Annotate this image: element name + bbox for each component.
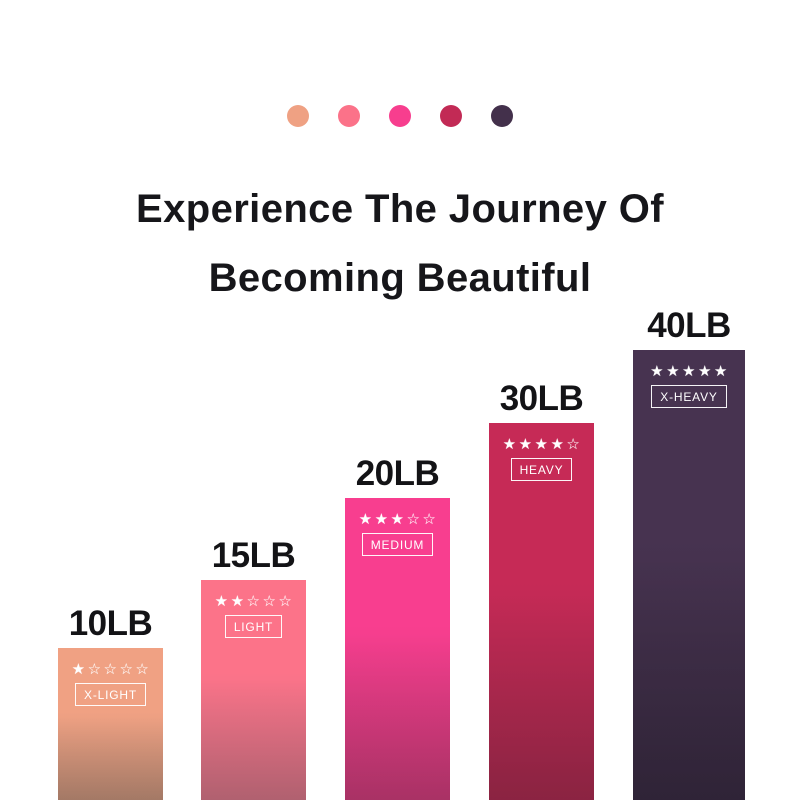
level-badge: LIGHT bbox=[225, 615, 282, 638]
star-filled-icon: ★ bbox=[550, 437, 564, 452]
bar-column: ★☆☆☆☆X-LIGHT bbox=[58, 648, 163, 800]
bar-column: ★★☆☆☆LIGHT bbox=[201, 580, 306, 800]
star-rating: ★★★☆☆ bbox=[359, 512, 437, 527]
star-filled-icon: ★ bbox=[391, 512, 405, 527]
star-filled-icon: ★ bbox=[359, 512, 373, 527]
bar-group-x-light[interactable]: 10LB★☆☆☆☆X-LIGHT bbox=[58, 648, 163, 800]
star-filled-icon: ★ bbox=[698, 364, 712, 379]
bar-meta: ★☆☆☆☆X-LIGHT bbox=[58, 662, 163, 706]
infographic-root: Experience The Journey Of Becoming Beaut… bbox=[0, 0, 800, 800]
star-empty-icon: ☆ bbox=[406, 512, 420, 527]
star-empty-icon: ☆ bbox=[119, 662, 133, 677]
bar-weight-label: 15LB bbox=[212, 536, 296, 576]
star-empty-icon: ☆ bbox=[88, 662, 102, 677]
star-filled-icon: ★ bbox=[519, 437, 533, 452]
star-filled-icon: ★ bbox=[650, 364, 664, 379]
star-filled-icon: ★ bbox=[714, 364, 728, 379]
bar-column: ★★★★★X-HEAVY bbox=[633, 350, 745, 800]
star-empty-icon: ☆ bbox=[135, 662, 149, 677]
star-empty-icon: ☆ bbox=[566, 437, 580, 452]
bar-meta: ★★★☆☆MEDIUM bbox=[345, 512, 450, 556]
star-filled-icon: ★ bbox=[503, 437, 517, 452]
bar-weight-label: 40LB bbox=[647, 306, 731, 346]
star-rating: ★★★★☆ bbox=[503, 437, 581, 452]
bar-weight-label: 20LB bbox=[356, 454, 440, 494]
star-empty-icon: ☆ bbox=[104, 662, 118, 677]
bar-weight-label: 10LB bbox=[69, 604, 153, 644]
bar-column: ★★★★☆HEAVY bbox=[489, 423, 594, 800]
level-badge: HEAVY bbox=[511, 458, 573, 481]
level-badge: X-LIGHT bbox=[75, 683, 146, 706]
star-filled-icon: ★ bbox=[682, 364, 696, 379]
bar-group-heavy[interactable]: 30LB★★★★☆HEAVY bbox=[489, 423, 594, 800]
star-rating: ★★☆☆☆ bbox=[215, 594, 293, 609]
star-filled-icon: ★ bbox=[215, 594, 229, 609]
level-badge: X-HEAVY bbox=[651, 385, 726, 408]
star-filled-icon: ★ bbox=[666, 364, 680, 379]
star-filled-icon: ★ bbox=[231, 594, 245, 609]
star-filled-icon: ★ bbox=[375, 512, 389, 527]
star-empty-icon: ☆ bbox=[247, 594, 261, 609]
star-empty-icon: ☆ bbox=[422, 512, 436, 527]
star-empty-icon: ☆ bbox=[262, 594, 276, 609]
bar-group-x-heavy[interactable]: 40LB★★★★★X-HEAVY bbox=[633, 350, 745, 800]
star-rating: ★★★★★ bbox=[650, 364, 728, 379]
star-empty-icon: ☆ bbox=[278, 594, 292, 609]
bar-group-medium[interactable]: 20LB★★★☆☆MEDIUM bbox=[345, 498, 450, 800]
bar-weight-label: 30LB bbox=[500, 379, 584, 419]
bar-meta: ★★☆☆☆LIGHT bbox=[201, 594, 306, 638]
bar-group-light[interactable]: 15LB★★☆☆☆LIGHT bbox=[201, 580, 306, 800]
bar-gradient-overlay bbox=[633, 350, 745, 800]
bar-column: ★★★☆☆MEDIUM bbox=[345, 498, 450, 800]
bar-meta: ★★★★★X-HEAVY bbox=[633, 364, 745, 408]
star-rating: ★☆☆☆☆ bbox=[72, 662, 150, 677]
resistance-band-bar-chart: 10LB★☆☆☆☆X-LIGHT15LB★★☆☆☆LIGHT20LB★★★☆☆M… bbox=[0, 0, 800, 800]
star-filled-icon: ★ bbox=[535, 437, 549, 452]
bar-meta: ★★★★☆HEAVY bbox=[489, 437, 594, 481]
star-filled-icon: ★ bbox=[72, 662, 86, 677]
level-badge: MEDIUM bbox=[362, 533, 433, 556]
